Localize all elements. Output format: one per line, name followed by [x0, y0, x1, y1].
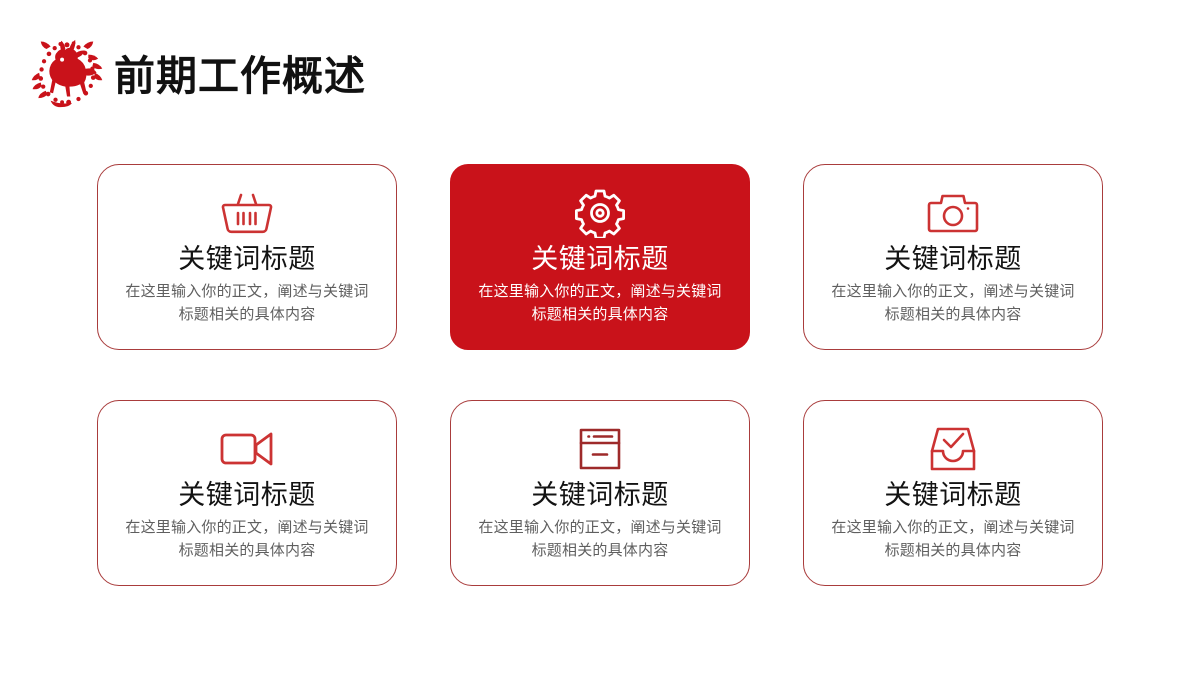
card-body: 在这里输入你的正文，阐述与关键词标题相关的具体内容	[471, 516, 729, 563]
feature-card-grid: 关键词标题 在这里输入你的正文，阐述与关键词标题相关的具体内容 关键词标题 在这…	[97, 164, 1103, 586]
card-title: 关键词标题	[531, 480, 669, 511]
browser-window-icon	[578, 423, 622, 475]
card-title: 关键词标题	[884, 480, 1022, 511]
card-title: 关键词标题	[178, 244, 316, 275]
card-title: 关键词标题	[178, 480, 316, 511]
feature-card-3[interactable]: 关键词标题 在这里输入你的正文，阐述与关键词标题相关的具体内容	[803, 164, 1103, 350]
card-title: 关键词标题	[884, 244, 1022, 275]
feature-card-4[interactable]: 关键词标题 在这里输入你的正文，阐述与关键词标题相关的具体内容	[97, 400, 397, 586]
papercut-deer-logo	[26, 34, 108, 118]
camera-icon	[927, 187, 979, 239]
gear-icon	[575, 187, 625, 239]
slide-header: 前期工作概述	[26, 34, 366, 118]
card-body: 在这里输入你的正文，阐述与关键词标题相关的具体内容	[471, 280, 729, 327]
card-body: 在这里输入你的正文，阐述与关键词标题相关的具体内容	[118, 516, 376, 563]
inbox-check-icon	[928, 423, 978, 475]
card-body: 在这里输入你的正文，阐述与关键词标题相关的具体内容	[824, 280, 1082, 327]
feature-card-6[interactable]: 关键词标题 在这里输入你的正文，阐述与关键词标题相关的具体内容	[803, 400, 1103, 586]
card-body: 在这里输入你的正文，阐述与关键词标题相关的具体内容	[824, 516, 1082, 563]
card-title: 关键词标题	[531, 244, 669, 275]
feature-card-1[interactable]: 关键词标题 在这里输入你的正文，阐述与关键词标题相关的具体内容	[97, 164, 397, 350]
feature-card-2[interactable]: 关键词标题 在这里输入你的正文，阐述与关键词标题相关的具体内容	[450, 164, 750, 350]
feature-card-5[interactable]: 关键词标题 在这里输入你的正文，阐述与关键词标题相关的具体内容	[450, 400, 750, 586]
video-camera-icon	[219, 423, 275, 475]
card-body: 在这里输入你的正文，阐述与关键词标题相关的具体内容	[118, 280, 376, 327]
shopping-basket-icon	[221, 187, 273, 239]
page-title: 前期工作概述	[114, 56, 366, 97]
